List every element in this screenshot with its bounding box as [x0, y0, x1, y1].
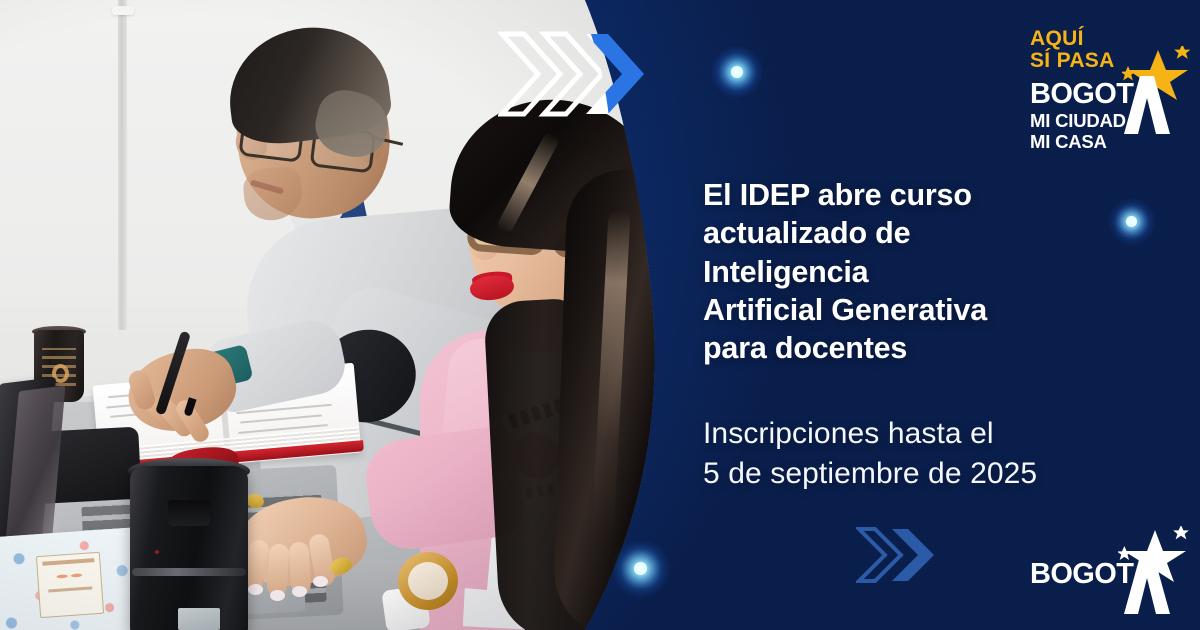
- bogota-wordmark-group: BOGOT MI CIUDAD MI CASA: [1030, 80, 1190, 164]
- logo-bogota-top-right: AQUÍ SÍ PASA BOGOT MI CIUDAD MI CASA: [1030, 28, 1188, 164]
- black-tumbler: [130, 466, 248, 630]
- tagline-line-1: AQUÍ: [1030, 27, 1084, 50]
- subheadline-line-1: Inscripciones hasta el: [703, 414, 1143, 454]
- headline-line-2: actualizado de: [703, 214, 1103, 252]
- tumbler-band: [132, 568, 246, 576]
- wall-seam: [118, 0, 127, 330]
- promo-banner: El IDEP abre curso actualizado de Inteli…: [0, 0, 1200, 630]
- slogan-line-2: MI CASA: [1030, 131, 1126, 152]
- headline-line-3: Inteligencia: [703, 253, 1103, 291]
- headline-line-4: Artificial Generativa: [703, 291, 1103, 329]
- bogota-chevron-a-icon: [1114, 556, 1170, 614]
- slogan-mi-ciudad-mi-casa: MI CIUDAD MI CASA: [1030, 110, 1126, 152]
- headline-line-5: para docentes: [703, 329, 1103, 367]
- wall-seam-cap: [112, 6, 134, 15]
- logo-bogota-bottom-right: BOGOT: [1030, 530, 1190, 616]
- tumbler-label: [178, 608, 220, 630]
- floral-notebook: [0, 527, 148, 630]
- page-title: El IDEP abre curso actualizado de Inteli…: [703, 176, 1103, 367]
- chevrons-bottom: [856, 524, 956, 586]
- tumbler-indicator: [155, 550, 159, 554]
- slogan-line-1: MI CIUDAD: [1030, 110, 1126, 131]
- tumbler-button: [168, 500, 210, 526]
- subheadline-line-2: 5 de septiembre de 2025: [703, 454, 1143, 494]
- deadline-text: Inscripciones hasta el 5 de septiembre d…: [703, 414, 1143, 494]
- chevrons-top: [498, 26, 688, 126]
- woman-watch-face: [408, 562, 448, 600]
- headline-line-1: El IDEP abre curso: [703, 176, 1103, 214]
